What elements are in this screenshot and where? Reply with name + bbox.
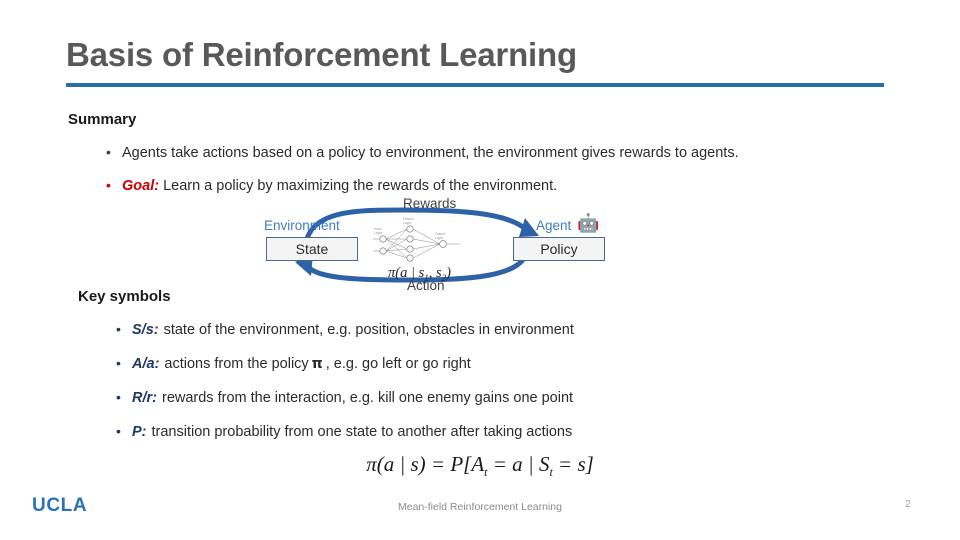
key-symbol-text-a-after: , e.g. go left or go right xyxy=(326,356,471,372)
neural-network-sketch xyxy=(373,229,460,258)
summary-bullet-1-text: Agents take actions based on a policy to… xyxy=(122,145,739,161)
bullet-dot-icon: • xyxy=(116,390,132,404)
pi-symbol: π xyxy=(312,356,323,372)
state-box: State xyxy=(266,237,358,261)
formula-close: ) xyxy=(446,265,451,281)
formula-pi-symbol: π xyxy=(366,452,377,476)
diagram-label-rewards: Rewards xyxy=(403,196,456,211)
summary-bullet-2: • Goal: Learn a policy by maximizing the… xyxy=(106,178,557,194)
bullet-dot-icon: • xyxy=(116,424,132,438)
svg-text:Layer: Layer xyxy=(374,231,383,235)
key-symbol-label-p: P: xyxy=(132,424,147,440)
key-symbol-label-s: S/s: xyxy=(132,322,159,338)
summary-bullet-1: • Agents take actions based on a policy … xyxy=(106,145,739,161)
bullet-dot-icon: • xyxy=(116,356,132,370)
key-symbol-text-s: state of the environment, e.g. position,… xyxy=(164,322,574,338)
robot-icon: 🤖 xyxy=(577,214,599,232)
summary-heading: Summary xyxy=(68,111,136,128)
goal-label: Goal: xyxy=(122,178,159,194)
diagram-label-environment: Environment xyxy=(264,218,340,233)
formula-part-3: = s] xyxy=(553,452,594,476)
key-symbol-text-r: rewards from the interaction, e.g. kill … xyxy=(162,390,573,406)
key-symbol-label-r: R/r: xyxy=(132,390,157,406)
bullet-dot-icon: • xyxy=(106,145,122,159)
key-symbol-text-a-before: actions from the policy xyxy=(164,356,308,372)
key-symbol-bullet-r: • R/r: rewards from the interaction, e.g… xyxy=(116,390,573,406)
key-symbol-bullet-s: • S/s: state of the environment, e.g. po… xyxy=(116,322,574,338)
formula-part-1: (a | s) = P[A xyxy=(377,452,484,476)
key-symbol-bullet-p: • P: transition probability from one sta… xyxy=(116,424,572,440)
bullet-dot-icon: • xyxy=(116,322,132,336)
key-symbols-heading: Key symbols xyxy=(78,288,171,305)
rl-cycle-diagram: Input Layer Hidden Layer Output Layer Re… xyxy=(255,196,625,294)
policy-definition-formula: π(a | s) = P[At = a | St = s] xyxy=(0,452,960,480)
footer-note: Mean-field Reinforcement Learning xyxy=(0,501,960,513)
diagram-label-agent: Agent xyxy=(536,218,571,233)
policy-box: Policy xyxy=(513,237,605,261)
formula-body: (a | s xyxy=(395,265,424,281)
page-title: Basis of Reinforcement Learning xyxy=(66,36,577,74)
key-symbol-bullet-a: • A/a: actions from the policy π , e.g. … xyxy=(116,356,471,372)
summary-bullet-2-text: Learn a policy by maximizing the rewards… xyxy=(163,178,557,194)
diagram-policy-formula: π(a | s1, s2) xyxy=(388,265,451,283)
key-symbol-label-a: A/a: xyxy=(132,356,159,372)
title-underline-rule xyxy=(66,83,884,87)
key-symbol-text-p: transition probability from one state to… xyxy=(152,424,573,440)
svg-text:Layer: Layer xyxy=(435,236,444,240)
svg-text:Layer: Layer xyxy=(403,221,412,225)
formula-part-2: = a | S xyxy=(488,452,550,476)
slide-number: 2 xyxy=(905,498,911,510)
formula-mid: , s xyxy=(429,265,442,281)
bullet-dot-icon: • xyxy=(106,178,122,192)
